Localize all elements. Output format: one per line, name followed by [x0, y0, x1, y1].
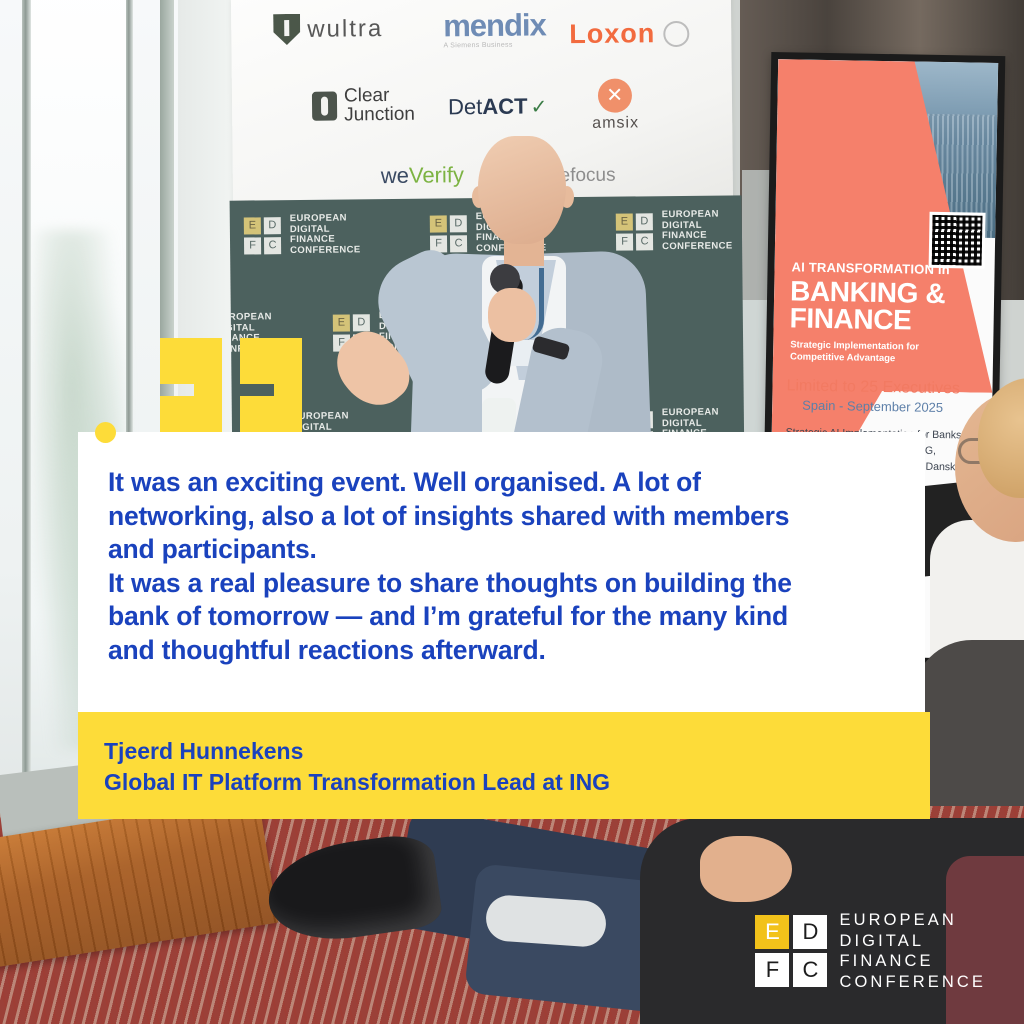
quote-line: networking, also a lot of insights share… [108, 500, 908, 534]
edfc-tile-d: D [793, 915, 827, 949]
quote-line: and thoughtful reactions afterward. [108, 634, 908, 668]
hand-holding-microphone [488, 288, 536, 342]
quotation-mark-icon [160, 338, 312, 446]
sneaker [485, 894, 608, 948]
quote-line: It was a real pleasure to share thoughts… [108, 567, 908, 601]
attribution-bar: Tjeerd Hunnekens Global IT Platform Tran… [78, 712, 930, 819]
amsix-icon [598, 78, 632, 112]
quote-card: It was an exciting event. Well organised… [78, 432, 925, 712]
backdrop-wordmark: EUROPEANDIGITAL FINANCECONFERENCE [662, 209, 733, 252]
poster-location-date: Spain - September 2025 [802, 398, 943, 415]
edfc-tile-c: C [793, 953, 827, 987]
author-name: Tjeerd Hunnekens [104, 738, 303, 765]
backdrop-wordmark: EUROPEANDIGITAL FINANCECONFERENCE [290, 213, 361, 256]
poster-limited-seats: Limited to 25 Executives [786, 377, 986, 398]
backdrop-tile: D [353, 314, 370, 331]
edfc-word-digital: DIGITAL [839, 931, 986, 952]
poster-qr-code [929, 212, 986, 269]
sponsor-label: wultra [307, 15, 383, 44]
quote-text: It was an exciting event. Well organised… [108, 466, 908, 667]
sponsor-logo-clear-junction: Clear Junction [344, 87, 415, 125]
poster-title-line2: FINANCE [789, 304, 979, 334]
sponsor-logo-circle-icon [663, 20, 689, 46]
clear-junction-icon [312, 92, 337, 121]
edfc-word-conference: CONFERENCE [839, 972, 986, 993]
edfc-logo-tiles: E D F C [755, 915, 827, 987]
quote-line: and participants. [108, 533, 908, 567]
wultra-shield-icon [273, 14, 300, 45]
edfc-logo: E D F C EUROPEAN DIGITAL FINANCE CONFERE… [755, 910, 986, 992]
poster-subtitle: Strategic Implementation for Competitive… [790, 339, 940, 366]
accent-dot [95, 422, 116, 443]
poster-title: BANKING & FINANCE [789, 277, 980, 334]
backdrop-logo-tiles: E D F C [244, 217, 281, 254]
author-role: Global IT Platform Transformation Lead a… [104, 769, 610, 796]
quote-line: It was an exciting event. Well organised… [108, 466, 908, 500]
edfc-tile-e: E [755, 915, 789, 949]
edfc-tile-f: F [755, 953, 789, 987]
edfc-wordmark: EUROPEAN DIGITAL FINANCE CONFERENCE [839, 910, 986, 992]
mendix-tagline: A Siemens Business [443, 42, 512, 50]
foreground-hand [700, 836, 792, 902]
backdrop-tile: E [244, 217, 261, 234]
quote-line: bank of tomorrow — and I’m grateful for … [108, 600, 908, 634]
backdrop-tile: F [244, 237, 261, 254]
detact-check-icon: ✓ [530, 94, 547, 119]
speaker-head [478, 136, 566, 244]
edfc-word-european: EUROPEAN [839, 910, 986, 931]
sponsor-logo-detact: DetACT [448, 94, 528, 121]
backdrop-tile: C [264, 237, 281, 254]
backdrop-tile: D [264, 217, 281, 234]
sponsor-logo-wultra: wultra [273, 13, 383, 45]
sponsor-logo-mendix: mendix [443, 7, 546, 44]
testimonial-graphic: wultra mendix A Siemens Business Loxon C… [0, 0, 1024, 1024]
backdrop-tile: E [333, 314, 350, 331]
sponsor-logo-loxon: Loxon [569, 18, 655, 50]
edfc-word-finance: FINANCE [839, 951, 986, 972]
